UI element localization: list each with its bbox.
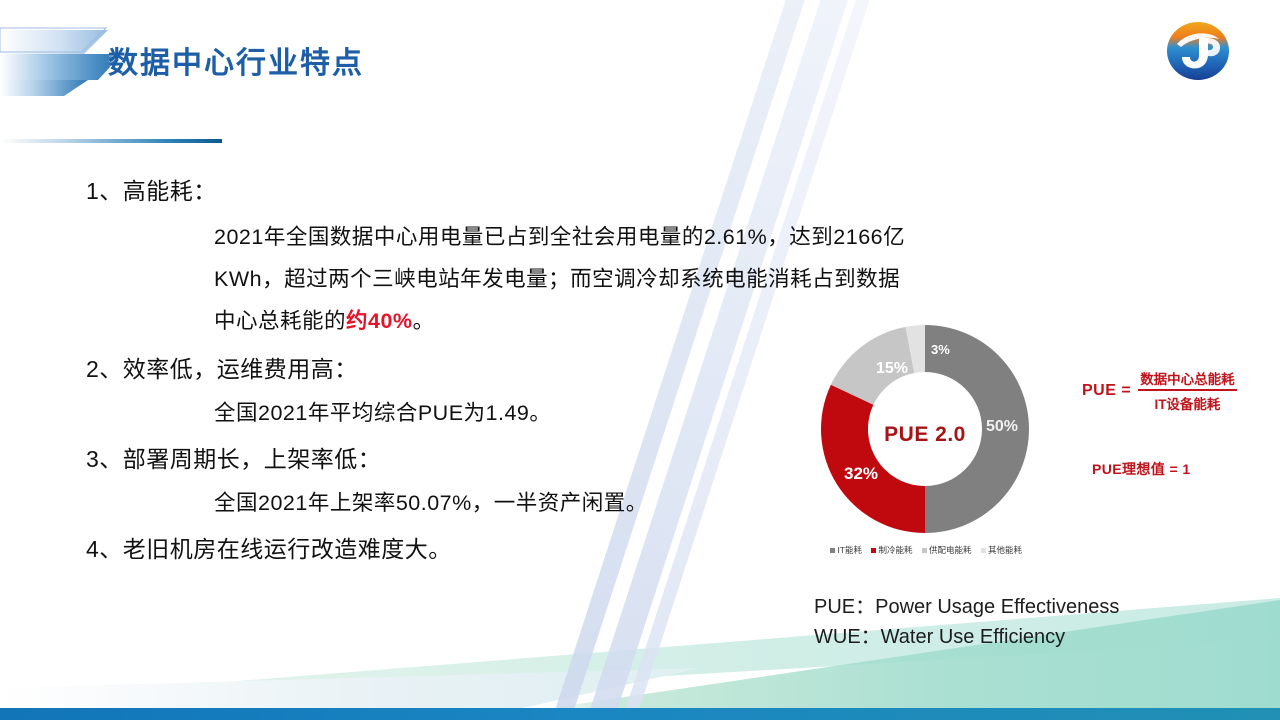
highlight-40-percent: 约40%	[346, 309, 413, 333]
slice-label-it: 50%	[986, 418, 1018, 436]
legend-item: 其他能耗	[981, 544, 1023, 556]
legend-label: 制冷能耗	[879, 544, 913, 556]
energy-breakdown-chart: PUE 2.0 50% 32% 15% 3% IT能耗制冷能耗供配电能耗其他能耗	[800, 322, 1050, 562]
legend-label: 其他能耗	[988, 544, 1022, 556]
bullet-3-heading: 3、部署周期长，上架率低：	[86, 440, 381, 474]
legend-swatch-icon	[981, 548, 986, 553]
pue-formula: PUE = 数据中心总能耗 IT设备能耗	[1082, 368, 1237, 413]
footnote-pue: PUE：Power Usage Effectiveness	[814, 590, 1119, 619]
legend-item: IT能耗	[830, 544, 862, 556]
legend-swatch-icon	[922, 548, 927, 553]
legend-swatch-icon	[830, 548, 835, 553]
bullet-1-line-3-tail: 。	[413, 309, 435, 333]
legend-label: IT能耗	[837, 544, 862, 556]
bullet-1-heading: 1、高能耗：	[86, 172, 217, 206]
donut-chart: PUE 2.0 50% 32% 15% 3%	[808, 322, 1042, 547]
legend-swatch-icon	[871, 548, 876, 553]
legend-item: 供配电能耗	[922, 544, 972, 556]
donut-slice	[821, 385, 925, 533]
bullet-2-heading: 2、效率低，运维费用高：	[86, 350, 358, 384]
bullet-3-line-1: 全国2021年上架率50.07%，一半资产闲置。	[214, 486, 648, 517]
bullet-2-line-1: 全国2021年平均综合PUE为1.49。	[214, 396, 551, 427]
formula-numerator: 数据中心总能耗	[1138, 368, 1237, 389]
slide-canvas: 数据中心行业特点 1、高能耗： 2021年全国数据中心用电量已占到全社会用电量的…	[0, 0, 1280, 720]
formula-fraction: 数据中心总能耗 IT设备能耗	[1138, 368, 1237, 413]
slice-label-cooling: 32%	[844, 464, 878, 484]
footnote-wue: WUE：Water Use Efficiency	[814, 620, 1065, 649]
bullet-1-line-3: 中心总耗能的约40%。	[214, 304, 435, 335]
bullet-4-heading: 4、老旧机房在线运行改造难度大。	[86, 530, 452, 564]
bullet-1-line-2: KWh，超过两个三峡电站年发电量；而空调冷却系统电能消耗占到数据	[214, 262, 900, 293]
bullet-1-line-3-text: 中心总耗能的	[214, 309, 346, 333]
legend-label: 供配电能耗	[929, 544, 972, 556]
slice-label-other: 3%	[931, 342, 950, 357]
chart-legend: IT能耗制冷能耗供配电能耗其他能耗	[798, 544, 1054, 556]
slice-label-power: 15%	[876, 360, 908, 378]
legend-item: 制冷能耗	[871, 544, 913, 556]
formula-lhs: PUE =	[1082, 382, 1131, 400]
pue-ideal-value: PUE理想值 = 1	[1092, 459, 1191, 479]
bullet-1-line-1: 2021年全国数据中心用电量已占到全社会用电量的2.61%，达到2166亿	[214, 220, 905, 251]
formula-denominator: IT设备能耗	[1152, 391, 1222, 413]
